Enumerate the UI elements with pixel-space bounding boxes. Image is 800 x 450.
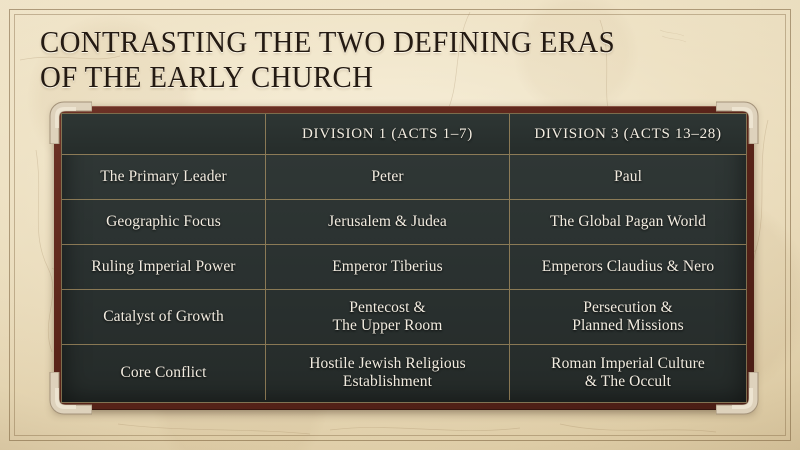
table-header-corner <box>62 114 266 155</box>
table-cell-division-3: Roman Imperial Culture & The Occult <box>510 345 746 400</box>
table-cell-division-1: Peter <box>266 155 510 200</box>
table-header-division-3: DIVISION 3 (ACTS 13–28) <box>510 114 746 155</box>
table-row-label: Catalyst of Growth <box>62 290 266 345</box>
table-row-label: The Primary Leader <box>62 155 266 200</box>
table-cell-division-1: Jerusalem & Judea <box>266 200 510 245</box>
table-cell-division-3: The Global Pagan World <box>510 200 746 245</box>
page-title: CONTRASTING THE TWO DEFINING ERAS OF THE… <box>40 24 682 94</box>
table-row-label: Ruling Imperial Power <box>62 245 266 290</box>
table-grid: DIVISION 1 (ACTS 1–7) DIVISION 3 (ACTS 1… <box>61 113 747 403</box>
table-cell-division-3: Emperors Claudius & Nero <box>510 245 746 290</box>
table-row-label: Core Conflict <box>62 345 266 400</box>
table-row-label: Geographic Focus <box>62 200 266 245</box>
table-cell-division-1: Pentecost & The Upper Room <box>266 290 510 345</box>
table-cell-division-3: Paul <box>510 155 746 200</box>
comparison-table: DIVISION 1 (ACTS 1–7) DIVISION 3 (ACTS 1… <box>54 106 754 410</box>
slide-canvas: CONTRASTING THE TWO DEFINING ERAS OF THE… <box>0 0 800 450</box>
table-cell-division-1: Hostile Jewish Religious Establishment <box>266 345 510 400</box>
table-cell-division-3: Persecution & Planned Missions <box>510 290 746 345</box>
table-header-division-1: DIVISION 1 (ACTS 1–7) <box>266 114 510 155</box>
table-cell-division-1: Emperor Tiberius <box>266 245 510 290</box>
